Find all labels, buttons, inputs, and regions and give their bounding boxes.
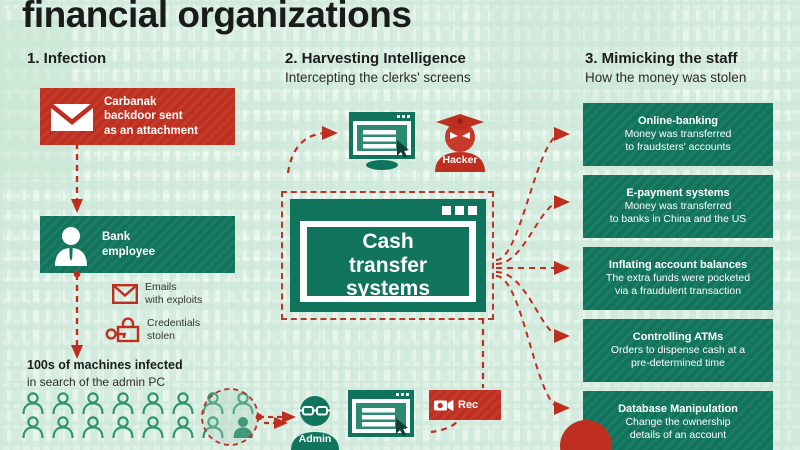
admin-label: Admin <box>287 433 343 445</box>
legend-credentials-line1: Credentials <box>147 317 200 329</box>
cash-transfer-line3: systems <box>346 277 430 300</box>
rec-badge[interactable]: Rec <box>429 390 501 420</box>
carbanak-email-label: Carbanak backdoor sent as an attachment <box>104 95 198 137</box>
bank-employee-line1: Bank <box>102 231 130 243</box>
bank-employee-box[interactable]: Bank employee <box>40 216 235 273</box>
fanout-arrows <box>494 90 594 450</box>
bank-employee-line2: employee <box>102 246 155 258</box>
legend-credentials-stolen: Credentials stolen <box>106 317 200 342</box>
legend-emails-label: Emails with exploits <box>145 281 202 306</box>
outcome-desc-line2: to fraudsters' accounts <box>625 141 730 154</box>
legend-emails-line1: Emails <box>145 281 177 293</box>
legend-credentials-line2: stolen <box>147 330 175 342</box>
outcome-box-inflating-account-balances[interactable]: Inflating account balances The extra fun… <box>583 247 773 310</box>
person-glyph <box>20 392 50 416</box>
outcome-box-e-payment-systems[interactable]: E-payment systems Money was transferred … <box>583 175 773 238</box>
outcome-desc-line1: Change the ownership <box>625 416 730 429</box>
person-glyph <box>80 416 110 440</box>
legend-emails-line2: with exploits <box>145 294 202 306</box>
arrow-email-to-employee <box>69 143 85 219</box>
outcome-desc-line1: Money was transferred <box>625 128 732 141</box>
column-heading-harvesting: 2. Harvesting Intelligence <box>285 50 466 67</box>
admin-monitor[interactable] <box>348 390 420 450</box>
carbanak-email-line2: backdoor sent <box>104 110 183 122</box>
person-glyph <box>50 416 80 440</box>
person-glyph <box>20 416 50 440</box>
bank-employee-label: Bank employee <box>102 230 155 258</box>
person-glyph <box>110 416 140 440</box>
hacker-label: Hacker <box>432 154 488 166</box>
outcome-title: Online-banking <box>638 115 718 129</box>
envelope-icon <box>50 101 94 133</box>
outcome-title: Controlling ATMs <box>633 331 723 345</box>
person-glyph <box>50 392 80 416</box>
outcome-title: Inflating account balances <box>609 259 747 273</box>
outcome-desc-line1: The extra funds were pocketed <box>606 272 750 285</box>
person-glyph <box>80 392 110 416</box>
rec-badge-label: Rec <box>458 399 478 411</box>
person-glyph <box>140 392 170 416</box>
carbanak-email-line3: as an attachment <box>104 125 198 137</box>
column-subheading-harvesting: Intercepting the clerks' screens <box>285 70 471 85</box>
column-heading-infection: 1. Infection <box>27 50 106 67</box>
carbanak-email-box[interactable]: Carbanak backdoor sent as an attachment <box>40 88 235 145</box>
window-dot <box>442 206 451 215</box>
envelope-outline-icon <box>112 284 138 304</box>
outcome-desc-line2: pre-determined time <box>631 357 725 370</box>
window-dot <box>468 206 477 215</box>
infographic-canvas: financial organizations 1. Infection 2. … <box>0 0 800 450</box>
outcome-box-online-banking[interactable]: Online-banking Money was transferred to … <box>583 103 773 166</box>
outcome-desc-line1: Money was transferred <box>625 200 732 213</box>
arrow-to-clerk-monitor <box>282 118 348 178</box>
machines-infected-title: 100s of machines infected <box>27 358 183 372</box>
person-glyph <box>140 416 170 440</box>
arrow-admin-to-monitor <box>262 412 292 436</box>
outcome-desc-line2: details of an account <box>630 429 726 442</box>
outcome-box-controlling-atms[interactable]: Controlling ATMs Orders to dispense cash… <box>583 319 773 382</box>
window-dot <box>455 206 464 215</box>
cash-transfer-label: Cash transfer systems <box>290 230 486 301</box>
outcome-desc-line2: to banks in China and the US <box>610 213 747 226</box>
outcome-desc-line2: via a fraudulent transaction <box>615 285 741 298</box>
page-title: financial organizations <box>22 0 411 36</box>
outcome-desc-line1: Orders to dispense cash at a <box>611 344 745 357</box>
carbanak-email-line1: Carbanak <box>104 96 156 108</box>
cash-transfer-line2: transfer <box>349 254 427 277</box>
legend-credentials-label: Credentials stolen <box>147 317 200 342</box>
video-camera-icon <box>434 399 454 412</box>
padlock-key-icon <box>106 318 140 342</box>
person-icon <box>50 224 92 266</box>
clerk-monitor[interactable] <box>349 112 421 172</box>
cash-transfer-line1: Cash <box>362 230 413 253</box>
legend-emails-with-exploits: Emails with exploits <box>112 281 202 306</box>
arrow-employee-to-machines <box>69 271 85 365</box>
admin-figure[interactable]: Admin <box>287 393 343 450</box>
outcome-title: Database Manipulation <box>618 403 738 417</box>
column-heading-mimicking: 3. Mimicking the staff <box>585 50 738 67</box>
column-subheading-mimicking: How the money was stolen <box>585 70 746 85</box>
cash-transfer-systems-window[interactable]: Cash transfer systems <box>290 199 486 312</box>
machines-infected-subtitle: in search of the admin PC <box>27 375 165 389</box>
outcome-title: E-payment systems <box>626 187 729 201</box>
person-glyph <box>110 392 140 416</box>
hacker-figure[interactable]: Hacker <box>432 110 488 172</box>
